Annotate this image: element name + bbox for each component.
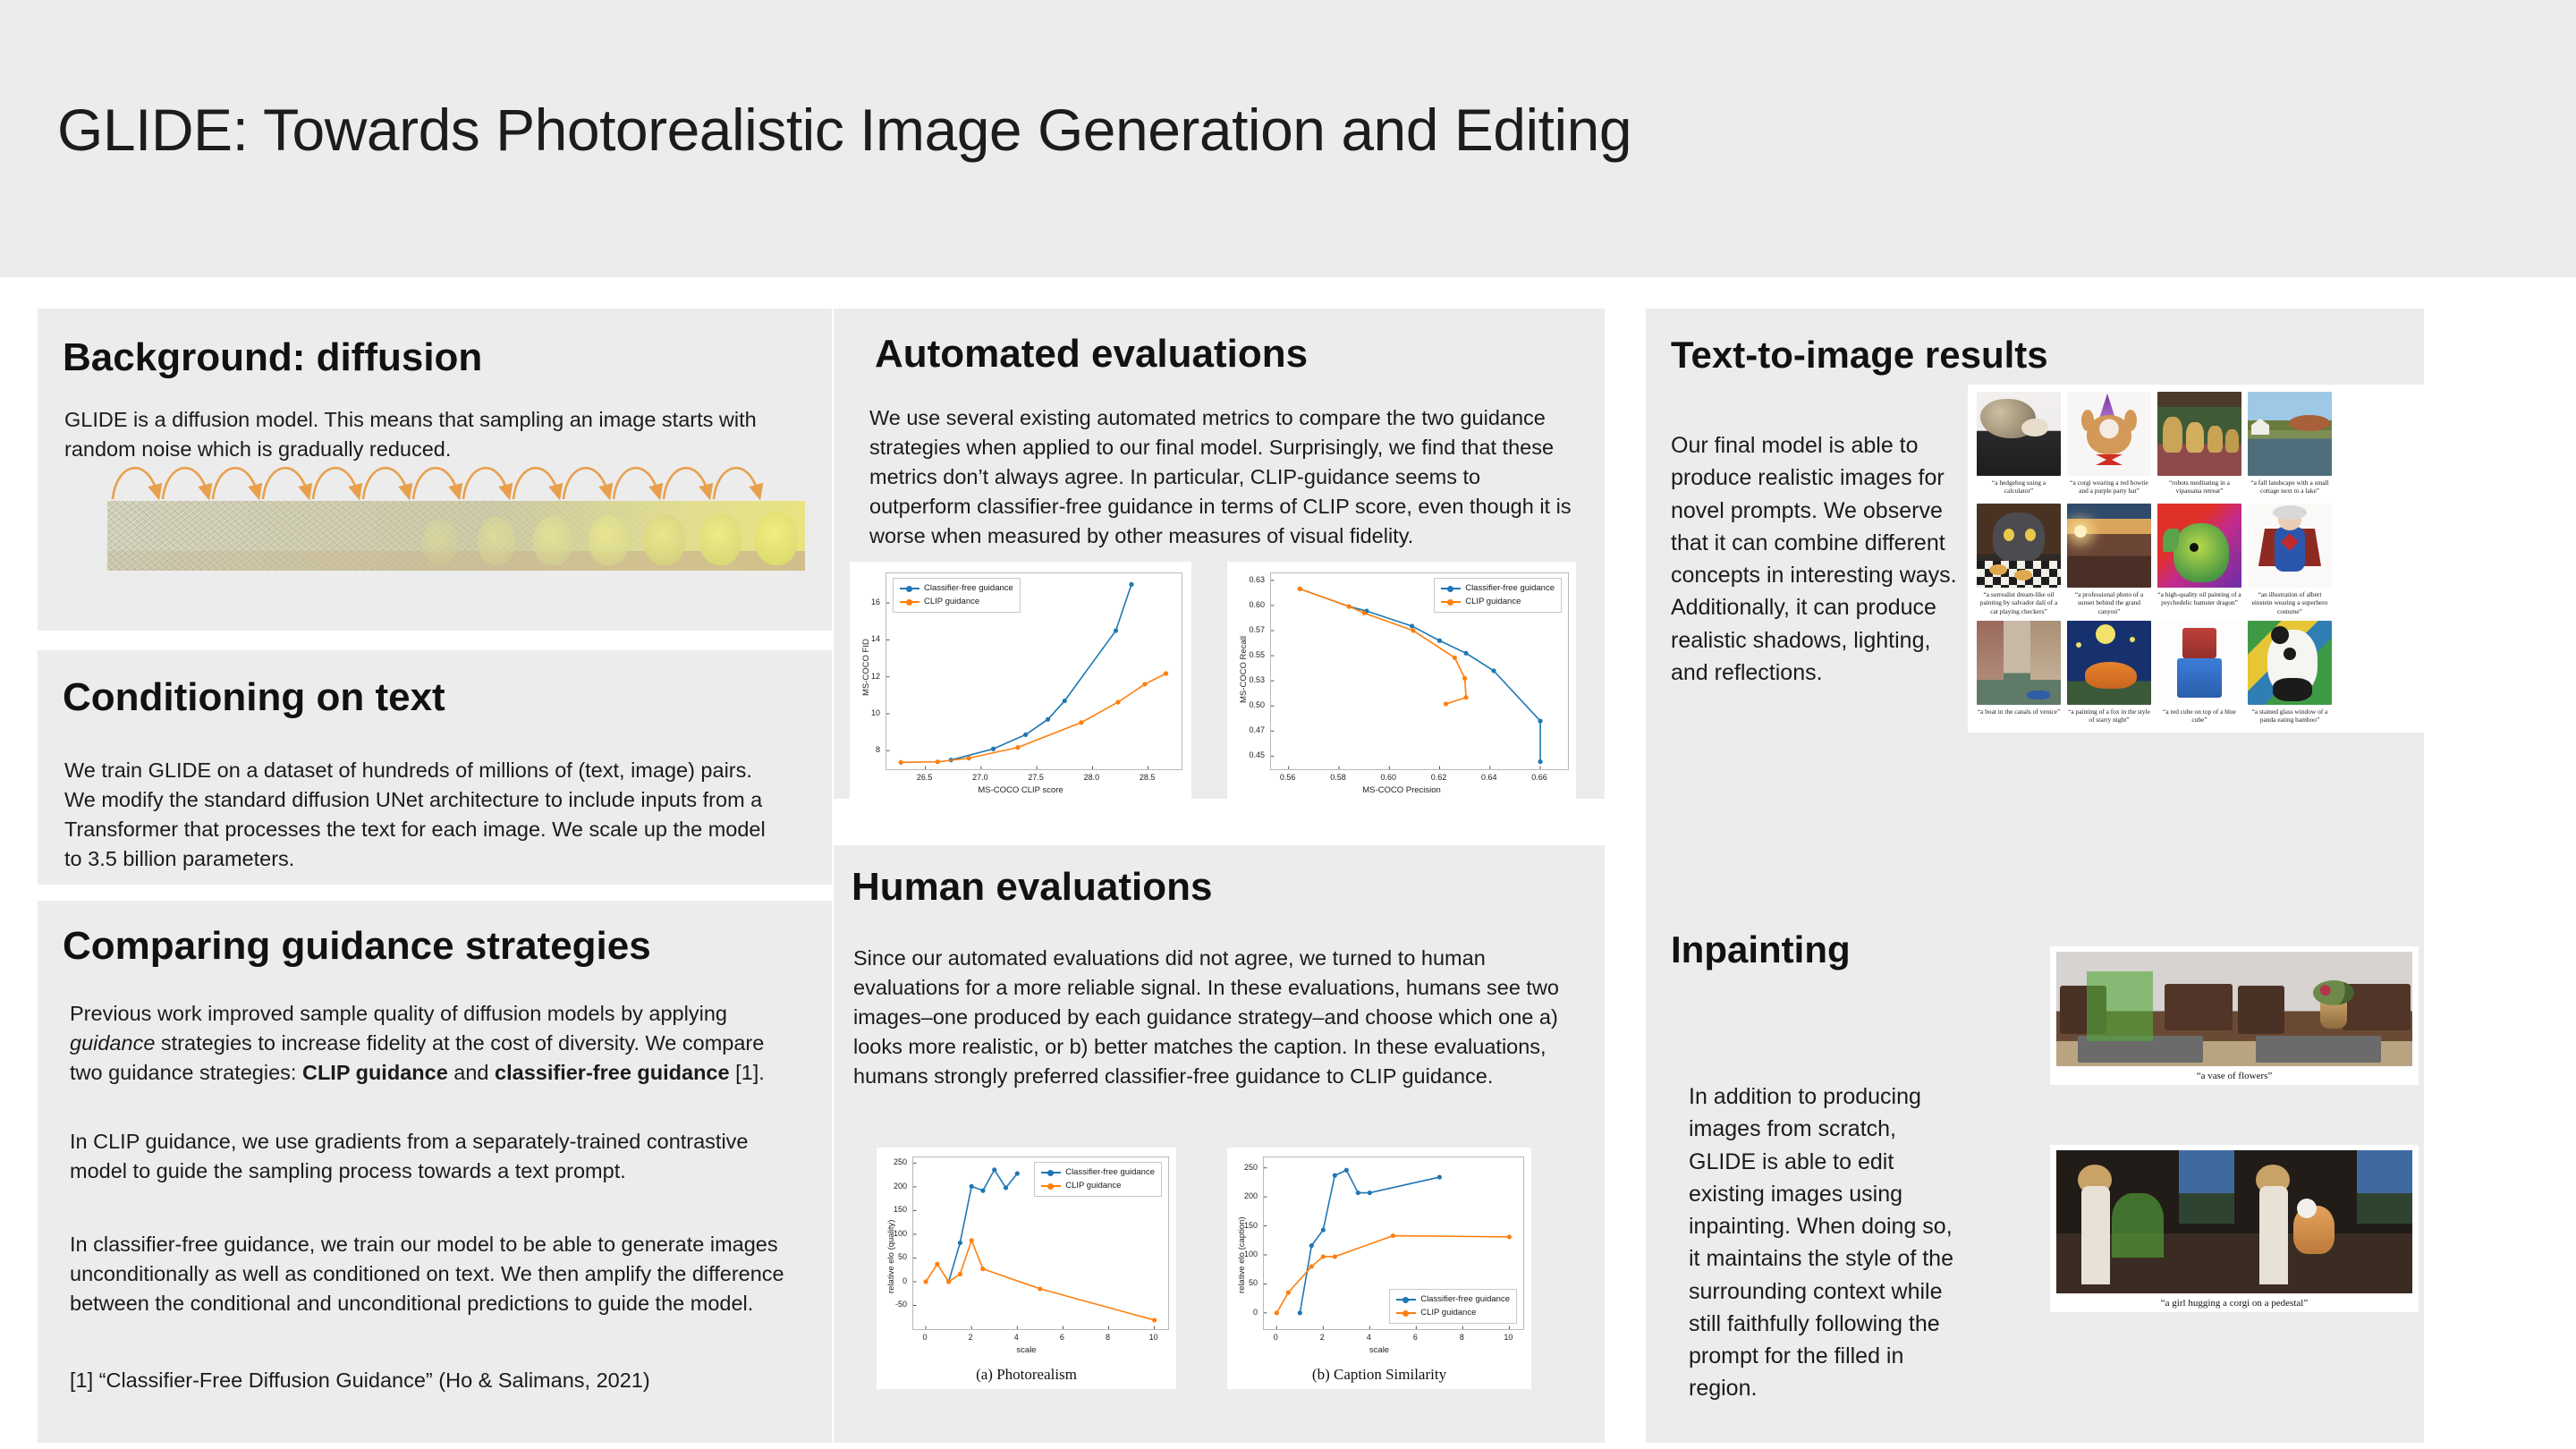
figure-caption: (a) Photorealism — [877, 1366, 1176, 1384]
x-axis-tick-label: 2 — [969, 1333, 973, 1342]
t2i-image-fall-cottage-lake — [2248, 392, 2332, 476]
comparing-p1-c: and — [448, 1061, 495, 1084]
legend-label: CLIP guidance — [924, 596, 979, 609]
diffusion-denoising-figure — [107, 449, 805, 583]
legend-label: Classifier-free guidance — [1420, 1293, 1510, 1307]
legend-entry: Classifier-free guidance — [1441, 582, 1555, 596]
legend-entry: CLIP guidance — [1041, 1180, 1155, 1193]
chart-legend: Classifier-free guidanceCLIP guidance — [1034, 1162, 1162, 1197]
x-axis-tick-label: 26.5 — [917, 773, 933, 782]
series-point — [1321, 1254, 1326, 1258]
series-point — [958, 1241, 962, 1245]
series-point — [1437, 1174, 1442, 1179]
panel-title-comparing: Comparing guidance strategies — [63, 926, 651, 967]
page-title: GLIDE: Towards Photorealistic Image Gene… — [57, 96, 1631, 164]
x-axis-tick-label: 4 — [1014, 1333, 1019, 1342]
series-point — [1444, 701, 1448, 706]
series-point — [1333, 1254, 1337, 1258]
comparing-p1-bold2: classifier-free guidance — [495, 1061, 730, 1084]
chart-legend: Classifier-free guidanceCLIP guidance — [1434, 578, 1562, 613]
x-axis-tick-label: 8 — [1106, 1333, 1110, 1342]
t2i-image-hedgehog-calculator — [1977, 392, 2061, 476]
series-point — [1321, 1227, 1326, 1232]
legend-entry: Classifier-free guidance — [1396, 1293, 1510, 1307]
panel-comparing-guidance-strategies: Comparing guidance strategies Previous w… — [38, 901, 832, 1443]
chart-recall-vs-precision: 0.560.580.600.620.640.660.450.470.500.53… — [1227, 562, 1576, 799]
x-axis-tick-label: 0.58 — [1330, 773, 1346, 782]
t2i-image-psychedelic-hamster-dragon — [2157, 504, 2241, 588]
inpainting-caption: “a vase of flowers” — [2056, 1066, 2412, 1081]
x-axis-label: MS-COCO Precision — [1227, 785, 1576, 795]
series-point — [970, 1238, 974, 1242]
x-axis-label: scale — [877, 1345, 1176, 1355]
series-point — [1015, 1171, 1020, 1175]
t2i-image-einstein-superhero — [2248, 504, 2332, 588]
y-axis-tick-label: 150 — [877, 1205, 907, 1214]
series-point — [1298, 1310, 1302, 1315]
series-point — [1347, 604, 1352, 608]
chart-fid-vs-clip: 26.527.027.528.028.5810121416MS-COCO CLI… — [850, 562, 1191, 799]
y-axis-tick-label: 250 — [877, 1157, 907, 1166]
legend-entry: CLIP guidance — [900, 596, 1013, 609]
legend-entry: CLIP guidance — [1441, 596, 1555, 609]
x-axis-label: scale — [1227, 1345, 1531, 1355]
series-point — [1046, 717, 1050, 722]
series-point — [1275, 1310, 1279, 1315]
t2i-caption: “an illustration of albert einstein wear… — [2248, 590, 2332, 615]
inpainting-pair-vase — [2056, 952, 2412, 1066]
panel-title-human: Human evaluations — [852, 867, 1212, 908]
y-axis-tick-label: 200 — [877, 1182, 907, 1191]
y-axis-tick-label: 0.60 — [1227, 600, 1265, 609]
t2i-caption: “robots meditating in a vipassana retrea… — [2157, 479, 2241, 498]
x-axis-tick-label: 10 — [1149, 1333, 1158, 1342]
series-line-clip-guidance — [901, 674, 1165, 762]
series-point — [1391, 1233, 1395, 1238]
x-axis-tick-label: 10 — [1504, 1333, 1513, 1342]
chart-legend: Classifier-free guidanceCLIP guidance — [1389, 1289, 1517, 1324]
x-axis-tick-label: 6 — [1413, 1333, 1418, 1342]
y-axis-label: relative elo (caption) — [1237, 1217, 1247, 1294]
panel-title-t2i: Text-to-image results — [1671, 335, 2048, 375]
x-axis-tick-label: 6 — [1060, 1333, 1064, 1342]
t2i-cell-venice[interactable]: “a boat in the canals of venice” — [1977, 621, 2061, 727]
x-axis-tick-label: 28.0 — [1084, 773, 1100, 782]
comparing-p1-a: Previous work improved sample quality of… — [70, 1002, 727, 1025]
panel-text-to-image-results: Text-to-image results Our final model is… — [1646, 309, 2424, 912]
series-point — [1309, 1264, 1314, 1268]
series-point — [1538, 718, 1542, 723]
legend-swatch-icon — [1041, 1185, 1061, 1187]
t2i-image-grand-canyon-sunset — [2067, 504, 2151, 588]
series-line-classifier-free-guidance — [1300, 589, 1540, 761]
panel-body-automated: We use several existing automated metric… — [869, 403, 1585, 550]
series-point — [1004, 1185, 1008, 1190]
t2i-cell-stained-glass-panda[interactable]: “a stained glass window of a panda eatin… — [2248, 621, 2332, 727]
t2i-row-1: “a hedgehog using a calculator” “a corgi… — [1977, 392, 2417, 498]
legend-label: Classifier-free guidance — [1465, 582, 1555, 596]
y-axis-tick-label: -50 — [877, 1300, 907, 1309]
panel-title-conditioning: Conditioning on text — [63, 677, 445, 718]
series-point — [1411, 628, 1415, 632]
series-point — [967, 756, 971, 760]
panel-title-inpainting: Inpainting — [1671, 930, 1851, 970]
t2i-image-venice-canal — [1977, 621, 2061, 705]
panel-human-evaluations: Human evaluations Since our automated ev… — [834, 845, 1605, 1443]
t2i-image-dali-cat-checkers — [1977, 504, 2061, 588]
series-point — [1344, 1168, 1349, 1173]
panel-body-comparing-para3: In classifier-free guidance, we train ou… — [70, 1230, 785, 1318]
inpainting-pair-corgi — [2056, 1150, 2412, 1293]
x-axis-tick-label: 2 — [1320, 1333, 1325, 1342]
t2i-cell-robots[interactable]: “robots meditating in a vipassana retrea… — [2157, 392, 2241, 498]
panel-background-diffusion: Background: diffusion GLIDE is a diffusi… — [38, 309, 832, 631]
legend-swatch-icon — [1041, 1172, 1061, 1174]
x-axis-tick-label: 0 — [1274, 1333, 1278, 1342]
t2i-cell-fox-starry-night[interactable]: “a painting of a fox in the style of sta… — [2067, 621, 2151, 727]
panel-body-t2i: Our final model is able to produce reali… — [1671, 429, 1957, 689]
t2i-cell-hamster-dragon[interactable]: “a high-quality oil painting of a psyche… — [2157, 504, 2241, 615]
x-axis-tick-label: 0.66 — [1531, 773, 1547, 782]
legend-entry: Classifier-free guidance — [1041, 1166, 1155, 1180]
x-axis-tick-label: 0.56 — [1280, 773, 1296, 782]
panel-body-inpainting: In addition to producing images from scr… — [1689, 1080, 1957, 1405]
t2i-cell-red-blue-cube[interactable]: “a red cube on top of a blue cube” — [2157, 621, 2241, 727]
series-point — [1286, 1291, 1291, 1295]
legend-label: CLIP guidance — [1420, 1307, 1476, 1320]
legend-label: Classifier-free guidance — [924, 582, 1013, 596]
series-point — [1362, 611, 1367, 615]
t2i-caption: “a red cube on top of a blue cube” — [2157, 708, 2241, 727]
panel-body-conditioning: We train GLIDE on a dataset of hundreds … — [64, 756, 780, 874]
series-point — [1538, 759, 1542, 764]
y-axis-tick-label: 16 — [850, 597, 880, 606]
inpainting-example-vase[interactable]: “a vase of flowers” — [2050, 946, 2419, 1085]
text-to-image-grid: “a hedgehog using a calculator” “a corgi… — [1968, 385, 2426, 733]
series-point — [1507, 1234, 1512, 1239]
series-point — [991, 747, 996, 751]
series-point — [1023, 733, 1028, 737]
series-point — [980, 1189, 985, 1193]
series-point — [1356, 1191, 1360, 1195]
series-point — [1038, 1286, 1042, 1291]
chart-human-caption-similarity: 0246810050100150200250scalerelative elo … — [1227, 1148, 1531, 1389]
x-axis-tick-label: 27.0 — [972, 773, 988, 782]
y-axis-tick-label: 250 — [1227, 1163, 1258, 1172]
series-point — [1309, 1243, 1314, 1248]
t2i-caption: “a painting of a fox in the style of sta… — [2067, 708, 2151, 727]
series-point — [936, 759, 940, 764]
series-point — [980, 1267, 985, 1271]
inpainting-masked-input-corgi — [2056, 1150, 2234, 1293]
legend-entry: CLIP guidance — [1396, 1307, 1510, 1320]
y-axis-label: relative elo (quality) — [886, 1220, 896, 1293]
panel-inpainting: Inpainting In addition to producing imag… — [1646, 903, 2424, 1443]
series-point — [1298, 587, 1302, 591]
series-point — [1063, 699, 1067, 703]
t2i-caption: “a professional photo of a sunset behind… — [2067, 590, 2151, 615]
series-point — [992, 1167, 996, 1172]
t2i-cell-hedgehog[interactable]: “a hedgehog using a calculator” — [1977, 392, 2061, 498]
y-axis-tick-label: 0.63 — [1227, 575, 1265, 584]
t2i-row-2: “a surrealist dream-like oil painting by… — [1977, 504, 2417, 615]
figure-caption: (b) Caption Similarity — [1227, 1366, 1531, 1384]
inpainting-example-corgi[interactable]: “a girl hugging a corgi on a pedestal” — [2050, 1145, 2419, 1312]
x-axis-tick-label: 0 — [923, 1333, 928, 1342]
t2i-cell-corgi[interactable]: “a corgi wearing a red bowtie and a purp… — [2067, 392, 2151, 498]
t2i-caption: “a corgi wearing a red bowtie and a purp… — [2067, 479, 2151, 498]
legend-label: CLIP guidance — [1065, 1180, 1121, 1193]
series-point — [1152, 1318, 1157, 1322]
series-point — [1463, 651, 1468, 656]
x-axis-tick-label: 0.60 — [1380, 773, 1396, 782]
inpainting-masked-input-vase — [2056, 952, 2234, 1066]
t2i-cell-einstein[interactable]: “an illustration of albert einstein wear… — [2248, 504, 2332, 615]
t2i-image-stained-glass-panda — [2248, 621, 2332, 705]
x-axis-tick-label: 28.5 — [1140, 773, 1156, 782]
y-axis-tick-label: 0.57 — [1227, 625, 1265, 634]
series-point — [1015, 745, 1020, 750]
y-axis-tick-label: 0.47 — [1227, 725, 1265, 734]
legend-swatch-icon — [1396, 1312, 1416, 1314]
series-point — [935, 1262, 939, 1267]
t2i-image-corgi-bowtie — [2067, 392, 2151, 476]
series-point — [1114, 628, 1118, 632]
x-axis-tick-label: 27.5 — [1028, 773, 1044, 782]
comparing-p1-italic: guidance — [70, 1031, 155, 1055]
series-line-clip-guidance — [926, 1241, 1155, 1320]
series-point — [958, 1272, 962, 1276]
inpainting-output-corgi — [2234, 1150, 2412, 1293]
t2i-caption: “a boat in the canals of venice” — [1978, 708, 2060, 727]
series-point — [1164, 671, 1168, 675]
y-axis-tick-label: 10 — [850, 708, 880, 717]
series-point — [899, 760, 903, 765]
x-axis-tick-label: 0.64 — [1481, 773, 1497, 782]
panel-title-automated: Automated evaluations — [875, 334, 1308, 375]
series-point — [1079, 720, 1083, 724]
x-axis-tick-label: 8 — [1460, 1333, 1464, 1342]
x-axis-tick-label: 4 — [1367, 1333, 1371, 1342]
series-point — [1462, 676, 1467, 681]
poster-canvas: GLIDE: Towards Photorealistic Image Gene… — [0, 0, 2576, 1449]
series-point — [1129, 582, 1133, 587]
inpainting-output-vase — [2234, 952, 2412, 1066]
t2i-caption: “a hedgehog using a calculator” — [1977, 479, 2061, 498]
t2i-cell-fall-landscape[interactable]: “a fall landscape with a small cottage n… — [2248, 392, 2332, 498]
t2i-row-3: “a boat in the canals of venice” “a pain… — [1977, 621, 2417, 727]
series-point — [1368, 1191, 1372, 1195]
t2i-caption: “a surrealist dream-like oil painting by… — [1977, 590, 2061, 615]
legend-label: Classifier-free guidance — [1065, 1166, 1155, 1180]
y-axis-label: MS-COCO Recall — [1239, 636, 1249, 703]
legend-swatch-icon — [1441, 601, 1461, 603]
series-point — [1437, 639, 1442, 643]
y-axis-label: MS-COCO FID — [861, 639, 871, 696]
t2i-caption: “a stained glass window of a panda eatin… — [2248, 708, 2332, 727]
diffusion-image-strip — [107, 501, 805, 571]
series-point — [1333, 1174, 1337, 1178]
poster-header: GLIDE: Towards Photorealistic Image Gene… — [0, 0, 2576, 277]
series-point — [1142, 682, 1147, 686]
chart-human-photorealism: 0246810-50050100150200250scalerelative e… — [877, 1148, 1176, 1389]
panel-automated-evaluations: Automated evaluations We use several exi… — [834, 309, 1605, 799]
t2i-caption: “a fall landscape with a small cottage n… — [2248, 479, 2332, 498]
diffusion-arrows-icon — [107, 449, 805, 501]
t2i-image-fox-starry-night — [2067, 621, 2151, 705]
inpainting-mask-region — [2087, 971, 2153, 1041]
series-point — [923, 1279, 928, 1284]
legend-swatch-icon — [900, 588, 919, 589]
series-point — [970, 1184, 974, 1189]
x-axis-label: MS-COCO CLIP score — [850, 785, 1191, 795]
panel-body-comparing-para1: Previous work improved sample quality of… — [70, 999, 785, 1088]
t2i-caption: “a high-quality oil painting of a psyche… — [2157, 590, 2241, 610]
y-axis-tick-label: 0.45 — [1227, 750, 1265, 759]
legend-label: CLIP guidance — [1465, 596, 1521, 609]
series-point — [1115, 699, 1120, 704]
t2i-cell-dali-cat[interactable]: “a surrealist dream-like oil painting by… — [1977, 504, 2061, 615]
t2i-cell-grand-canyon[interactable]: “a professional photo of a sunset behind… — [2067, 504, 2151, 615]
series-point — [1491, 668, 1496, 673]
t2i-image-robots-vipassana — [2157, 392, 2241, 476]
legend-entry: Classifier-free guidance — [900, 582, 1013, 596]
inpainting-caption: “a girl hugging a corgi on a pedestal” — [2056, 1293, 2412, 1309]
y-axis-tick-label: 0 — [1227, 1308, 1258, 1317]
panel-body-human: Since our automated evaluations did not … — [853, 944, 1578, 1090]
comparing-p1-bold1: CLIP guidance — [302, 1061, 448, 1084]
t2i-image-red-cube-on-blue-cube — [2157, 621, 2241, 705]
legend-swatch-icon — [1441, 588, 1461, 589]
legend-swatch-icon — [1396, 1299, 1416, 1301]
inpainting-mask-region — [2112, 1193, 2164, 1258]
comparing-p1-d: [1]. — [730, 1061, 765, 1084]
panel-reference-citation: [1] “Classifier-Free Diffusion Guidance”… — [70, 1366, 785, 1395]
panel-title-background: Background: diffusion — [63, 337, 482, 378]
y-axis-tick-label: 200 — [1227, 1191, 1258, 1200]
panel-body-comparing-para2: In CLIP guidance, we use gradients from … — [70, 1127, 785, 1186]
series-point — [1453, 656, 1457, 660]
chart-legend: Classifier-free guidanceCLIP guidance — [893, 578, 1021, 613]
series-point — [1410, 623, 1414, 628]
panel-conditioning-on-text: Conditioning on text We train GLIDE on a… — [38, 650, 832, 885]
series-point — [1463, 695, 1468, 699]
y-axis-tick-label: 8 — [850, 745, 880, 754]
series-point — [946, 1279, 951, 1284]
x-axis-tick-label: 0.62 — [1431, 773, 1447, 782]
legend-swatch-icon — [900, 601, 919, 603]
